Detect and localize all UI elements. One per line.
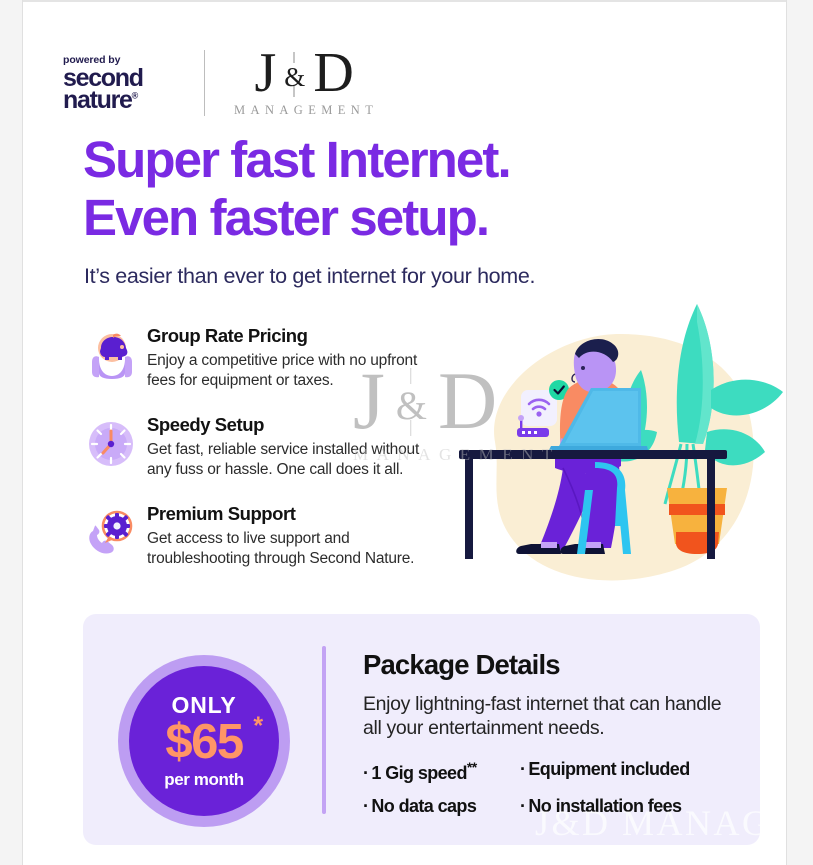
list-item: ·Equipment included: [520, 760, 738, 784]
second-nature-word-nature: nature®: [63, 89, 178, 111]
logo-bar: powered by second nature® J & D MANAGEME…: [63, 48, 378, 118]
bullet-dot: ·: [520, 759, 525, 779]
bullet-superscript: **: [467, 759, 477, 775]
list-item: Group Rate Pricing Enjoy a competitive p…: [85, 326, 445, 402]
bullet-text: No installation fees: [528, 796, 681, 816]
flyer-viewport: powered by second nature® J & D MANAGEME…: [0, 0, 813, 865]
left-gutter: [0, 0, 22, 865]
bullet-text: No data caps: [371, 796, 476, 816]
feature-title: Speedy Setup: [147, 415, 445, 435]
headline-line-2: Even faster setup.: [83, 189, 683, 247]
feature-list: Group Rate Pricing Enjoy a competitive p…: [85, 326, 445, 593]
package-title: Package Details: [363, 651, 738, 679]
registered-mark: ®: [132, 91, 139, 101]
right-gutter: [786, 0, 813, 865]
list-item: ·No data caps: [363, 797, 520, 817]
bullet-dot: ·: [363, 796, 368, 816]
feature-description: Enjoy a competitive price with no upfron…: [147, 351, 445, 391]
list-item: Premium Support Get access to live suppo…: [85, 504, 445, 580]
package-details-panel: ONLY $65* per month Package Details Enjo…: [83, 614, 760, 845]
subheadline: It’s easier than ever to get internet fo…: [84, 264, 535, 289]
logo-divider: [204, 50, 205, 116]
panel-divider: [322, 646, 326, 814]
package-description: Enjoy lightning-fast internet that can h…: [363, 692, 738, 742]
package-bullet-list: ·1 Gig speed** ·Equipment included ·No d…: [363, 760, 738, 817]
jd-management-word: MANAGEMENT: [229, 103, 378, 118]
jd-monogram: J & D: [255, 48, 353, 100]
piggy-bank-in-hands-icon: [85, 329, 137, 381]
price-period-label: per month: [164, 771, 244, 788]
price-only-label: ONLY: [172, 694, 237, 717]
headline-line-1: Super fast Internet.: [83, 131, 683, 189]
jd-letter-j: J: [255, 48, 276, 100]
bullet-dot: ·: [520, 796, 525, 816]
feature-title: Group Rate Pricing: [147, 326, 445, 346]
price-badge-inner: ONLY $65* per month: [129, 666, 279, 816]
list-item: ·No installation fees: [520, 797, 738, 817]
bullet-dot: ·: [363, 763, 368, 783]
bullet-text: 1 Gig speed: [371, 763, 466, 783]
price-amount: $65*: [165, 718, 242, 768]
feature-description: Get fast, reliable service installed wit…: [147, 440, 445, 480]
phone-gear-support-icon: [85, 507, 137, 559]
price-value: $65: [165, 715, 242, 769]
package-content: Package Details Enjoy lightning-fast int…: [363, 651, 738, 817]
feature-title: Premium Support: [147, 504, 445, 524]
jd-ampersand: &: [277, 65, 311, 90]
jd-management-logo: J & D MANAGEMENT: [229, 48, 378, 118]
person-at-desk-with-laptop-illustration: [435, 292, 787, 600]
bullet-text: Equipment included: [528, 759, 689, 779]
jd-letter-d: D: [313, 48, 352, 100]
clock-icon: [85, 418, 137, 470]
list-item: ·1 Gig speed**: [363, 760, 520, 784]
price-badge: ONLY $65* per month: [118, 655, 290, 827]
list-item: Speedy Setup Get fast, reliable service …: [85, 415, 445, 491]
price-asterisk: *: [253, 714, 261, 740]
page-title: Super fast Internet. Even faster setup.: [83, 131, 683, 246]
page-sheet: powered by second nature® J & D MANAGEME…: [22, 0, 787, 865]
second-nature-logo: powered by second nature®: [63, 55, 178, 112]
feature-description: Get access to live support and troublesh…: [147, 529, 445, 569]
sheet-top-edge: [23, 0, 786, 2]
